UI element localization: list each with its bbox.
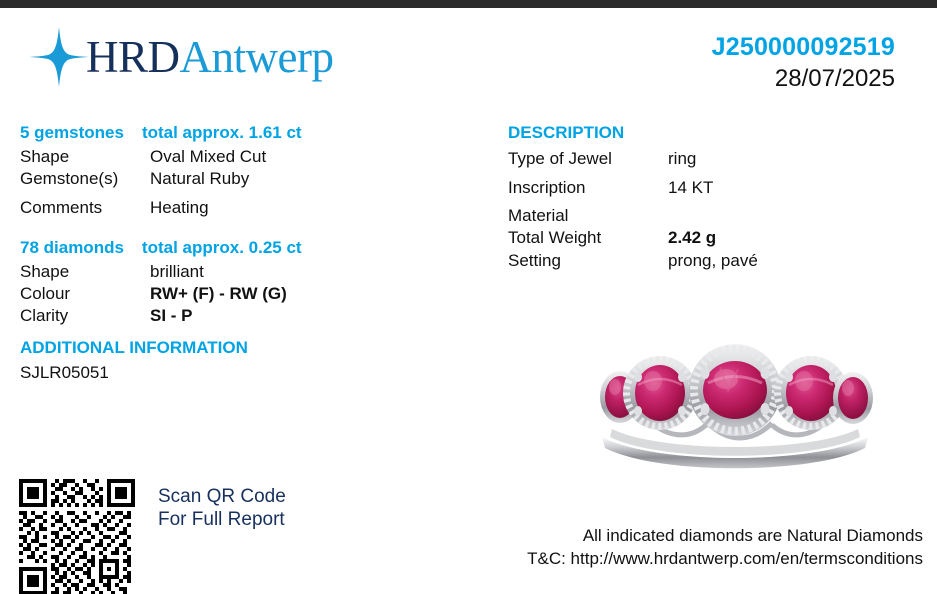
row-label: Clarity bbox=[20, 306, 150, 326]
row-value: ring bbox=[668, 149, 696, 169]
qr-code-graphic bbox=[19, 479, 135, 594]
diamonds-total-weight-label: total approx. 0.25 ct bbox=[142, 238, 302, 258]
footer-notes: All indicated diamonds are Natural Diamo… bbox=[527, 524, 923, 570]
qr-caption-line1: Scan QR Code bbox=[158, 485, 286, 508]
row-value: Natural Ruby bbox=[150, 169, 249, 189]
description-row-total-weight: Total Weight2.42 g bbox=[508, 228, 716, 248]
row-value: Heating bbox=[150, 198, 209, 218]
gemstones-row-shape: ShapeOval Mixed Cut bbox=[20, 147, 266, 167]
qr-caption-line2: For Full Report bbox=[158, 508, 286, 531]
gemstones-section-heading: 5 gemstonestotal approx. 1.61 ct bbox=[20, 123, 302, 143]
additional-information-heading: ADDITIONAL INFORMATION bbox=[20, 338, 248, 358]
logo-hrd-text: HRD bbox=[86, 32, 180, 82]
description-section-heading: DESCRIPTION bbox=[508, 123, 624, 143]
sparkle-star-icon bbox=[28, 26, 90, 88]
logo-wordmark: HRDAntwerp bbox=[86, 35, 333, 80]
row-value: RW+ (F) - RW (G) bbox=[150, 284, 287, 304]
description-row-inscription: Inscription14 KT bbox=[508, 178, 713, 198]
row-label: Type of Jewel bbox=[508, 149, 668, 169]
gemstones-total-weight-label: total approx. 1.61 ct bbox=[142, 123, 302, 143]
qr-caption: Scan QR Code For Full Report bbox=[158, 485, 286, 531]
row-value: prong, pavé bbox=[668, 251, 758, 271]
diamonds-section-heading: 78 diamondstotal approx. 0.25 ct bbox=[20, 238, 302, 258]
qr-code[interactable] bbox=[19, 479, 135, 594]
gemstones-row-comments: CommentsHeating bbox=[20, 198, 209, 218]
row-label: Inscription bbox=[508, 178, 668, 198]
gemstones-row-gemstone: Gemstone(s)Natural Ruby bbox=[20, 169, 249, 189]
row-label: Gemstone(s) bbox=[20, 169, 150, 189]
row-label: Comments bbox=[20, 198, 150, 218]
ruby-gem-3 bbox=[689, 344, 781, 436]
ring-image-graphic bbox=[560, 325, 910, 475]
ruby-gem-2 bbox=[623, 356, 697, 430]
row-label: Shape bbox=[20, 147, 150, 167]
row-value: Oval Mixed Cut bbox=[150, 147, 266, 167]
top-border-bar bbox=[0, 0, 937, 8]
additional-information-value: SJLR05051 bbox=[20, 363, 109, 383]
certificate-card: HRDAntwerp J250000092519 28/07/2025 5 ge… bbox=[0, 0, 937, 594]
description-row-type-of-jewel: Type of Jewelring bbox=[508, 149, 696, 169]
ruby-gem-5 bbox=[833, 372, 873, 424]
diamonds-row-colour: ColourRW+ (F) - RW (G) bbox=[20, 284, 287, 304]
row-value: 2.42 g bbox=[668, 228, 716, 248]
description-row-material: Material bbox=[508, 206, 668, 226]
row-label: Total Weight bbox=[508, 228, 668, 248]
footer-terms-link[interactable]: T&C: http://www.hrdantwerp.com/en/termsc… bbox=[527, 547, 923, 570]
row-value: SI - P bbox=[150, 306, 193, 326]
gemstones-count-label: 5 gemstones bbox=[20, 123, 124, 142]
certificate-date: 28/07/2025 bbox=[775, 65, 895, 93]
diamonds-row-shape: Shapebrilliant bbox=[20, 262, 204, 282]
row-value: 14 KT bbox=[668, 178, 713, 198]
ring-photograph bbox=[560, 325, 910, 475]
row-label: Setting bbox=[508, 251, 668, 271]
logo-antwerp-text: Antwerp bbox=[180, 32, 334, 82]
row-label: Material bbox=[508, 206, 668, 226]
hrd-antwerp-logo: HRDAntwerp bbox=[28, 26, 333, 88]
row-value: brilliant bbox=[150, 262, 204, 282]
footer-natural-diamonds-note: All indicated diamonds are Natural Diamo… bbox=[527, 524, 923, 547]
description-row-setting: Settingprong, pavé bbox=[508, 251, 758, 271]
certificate-number: J250000092519 bbox=[712, 33, 895, 62]
diamonds-row-clarity: ClaritySI - P bbox=[20, 306, 193, 326]
row-label: Shape bbox=[20, 262, 150, 282]
row-label: Colour bbox=[20, 284, 150, 304]
diamonds-count-label: 78 diamonds bbox=[20, 238, 124, 257]
